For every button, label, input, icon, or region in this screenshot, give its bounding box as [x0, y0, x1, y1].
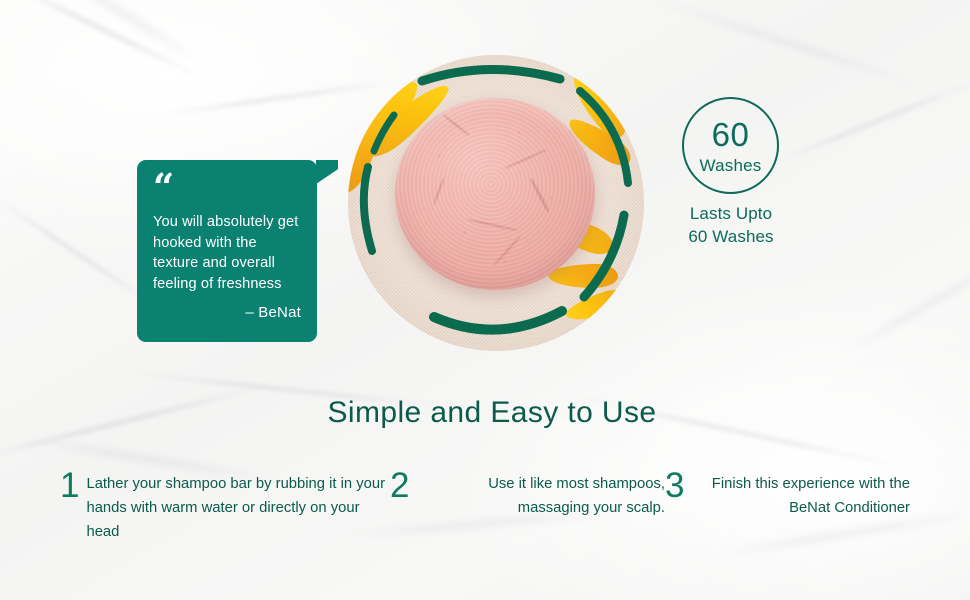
- step-text: Finish this experience with the BeNat Co…: [691, 470, 910, 521]
- hand-drawn-ring-icon: [348, 55, 644, 351]
- washes-caption: Lasts Upto 60 Washes: [640, 203, 822, 249]
- step-number: 1: [60, 470, 79, 502]
- steps-list: 1 Lather your shampoo bar by rubbing it …: [60, 470, 910, 545]
- washes-count: 60: [712, 118, 750, 151]
- quote-mark-icon: “: [153, 174, 301, 202]
- page-title: Simple and Easy to Use: [0, 396, 970, 430]
- infographic-canvas: “ You will absolutely get hooked with th…: [0, 0, 970, 600]
- step-number: 3: [665, 470, 684, 502]
- step-number: 2: [390, 470, 409, 502]
- step-item: 3 Finish this experience with the BeNat …: [665, 470, 910, 521]
- quote-text: You will absolutely get hooked with the …: [153, 212, 301, 295]
- page-title-text: Simple and Easy to Use: [314, 396, 657, 429]
- washes-badge: 60 Washes: [682, 97, 779, 194]
- washes-caption-line2: 60 Washes: [640, 226, 822, 249]
- product-photo: [348, 55, 644, 351]
- step-text: Use it like most shampoos, massaging you…: [416, 470, 665, 521]
- step-item: 2 Use it like most shampoos, massaging y…: [390, 470, 665, 521]
- washes-unit: Washes: [700, 157, 762, 174]
- quote-attribution: – BeNat: [153, 304, 301, 321]
- washes-caption-line1: Lasts Upto: [640, 203, 822, 226]
- testimonial-quote-bubble: “ You will absolutely get hooked with th…: [137, 160, 317, 342]
- step-item: 1 Lather your shampoo bar by rubbing it …: [60, 470, 390, 545]
- step-text: Lather your shampoo bar by rubbing it in…: [86, 470, 390, 545]
